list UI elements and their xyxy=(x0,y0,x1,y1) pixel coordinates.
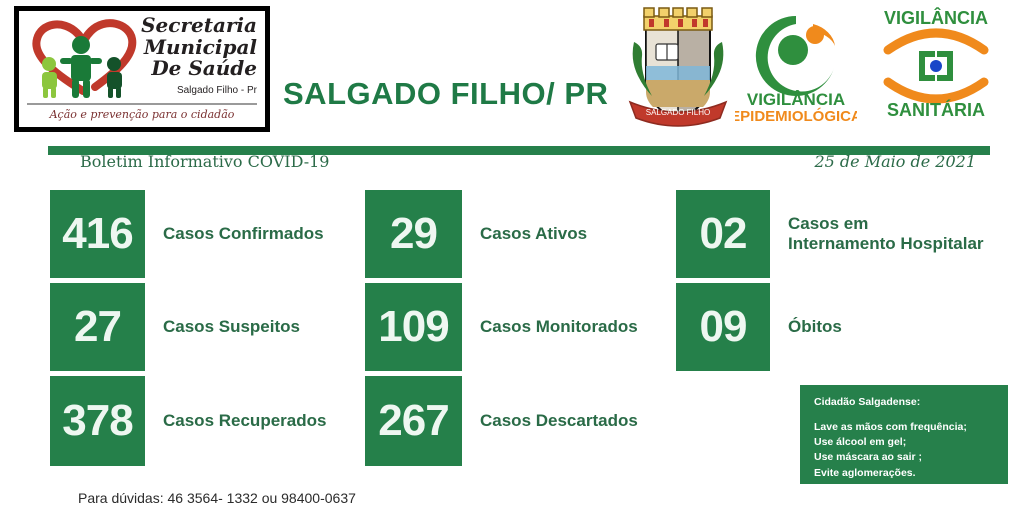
stat-card: 02 Casos em Internamento Hospitalar xyxy=(676,190,984,278)
stat-value: 109 xyxy=(365,283,462,371)
stat-label: Casos Confirmados xyxy=(163,224,324,244)
bulletin-date: 25 de Maio de 2021 xyxy=(814,152,976,171)
stat-value: 09 xyxy=(676,283,770,371)
stat-card: 378 Casos Recuperados xyxy=(50,376,326,466)
covid-bulletin-page: Secretaria Municipal De Saúde Salgado Fi… xyxy=(0,0,1024,512)
stat-value: 02 xyxy=(676,190,770,278)
stat-label: Casos Ativos xyxy=(480,224,587,244)
epidemiological-surveillance-logo: VIGILÂNCIA EPIDEMIOLÓGICA xyxy=(735,8,857,126)
stat-label: Casos Monitorados xyxy=(480,317,638,337)
logo-line-2: Municipal xyxy=(109,37,257,59)
stat-card: 27 Casos Suspeitos xyxy=(50,283,300,371)
health-department-logo: Secretaria Municipal De Saúde Salgado Fi… xyxy=(14,6,270,132)
logo-divider xyxy=(27,103,257,105)
advice-item: Lave as mãos com frequência; xyxy=(814,420,1008,435)
logo-line-1: Secretaria xyxy=(109,15,257,37)
sanitary-surveillance-logo: VIGILÂNCIA SANITÁRIA xyxy=(866,4,1006,126)
coat-of-arms-icon: SALGADO FILHO xyxy=(628,6,728,128)
logo-slogan: Ação e prevenção para o cidadão xyxy=(19,108,265,121)
stat-value: 267 xyxy=(365,376,462,466)
stat-value: 27 xyxy=(50,283,145,371)
san-logo-line-1: VIGILÂNCIA xyxy=(884,7,988,28)
stat-card: 109 Casos Monitorados xyxy=(365,283,638,371)
stat-card: 416 Casos Confirmados xyxy=(50,190,324,278)
san-logo-line-2: SANITÁRIA xyxy=(887,99,985,120)
stat-value: 378 xyxy=(50,376,145,466)
stat-label: Casos em Internamento Hospitalar xyxy=(788,214,984,255)
stat-card: 09 Óbitos xyxy=(676,283,842,371)
advice-item: Evite aglomerações. xyxy=(814,466,1008,481)
stat-card: 29 Casos Ativos xyxy=(365,190,587,278)
stat-value: 416 xyxy=(50,190,145,278)
prevention-advice-box: Cidadão Salgadense: Lave as mãos com fre… xyxy=(800,385,1008,484)
epi-logo-line-1: VIGILÂNCIA xyxy=(747,90,845,109)
stat-card: 267 Casos Descartados xyxy=(365,376,638,466)
coat-of-arms-ribbon-text: SALGADO FILHO xyxy=(646,108,710,117)
advice-item: Use máscara ao sair ; xyxy=(814,450,1008,465)
health-department-name: Secretaria Municipal De Saúde xyxy=(109,15,257,80)
stat-label: Casos Recuperados xyxy=(163,411,326,431)
stat-label: Casos Suspeitos xyxy=(163,317,300,337)
logo-line-3: De Saúde xyxy=(109,58,257,80)
stat-label: Casos Descartados xyxy=(480,411,638,431)
logo-city-label: Salgado Filho - Pr xyxy=(109,85,257,96)
contact-footer: Para dúvidas: 46 3564- 1332 ou 98400-063… xyxy=(78,490,356,506)
bulletin-subtitle: Boletim Informativo COVID-19 xyxy=(80,152,329,171)
epi-logo-line-2: EPIDEMIOLÓGICA xyxy=(735,107,857,125)
advice-item: Use álcool em gel; xyxy=(814,435,1008,450)
page-title: SALGADO FILHO/ PR xyxy=(283,76,608,112)
stat-label: Óbitos xyxy=(788,317,842,337)
stat-value: 29 xyxy=(365,190,462,278)
advice-heading: Cidadão Salgadense: xyxy=(814,396,1008,408)
